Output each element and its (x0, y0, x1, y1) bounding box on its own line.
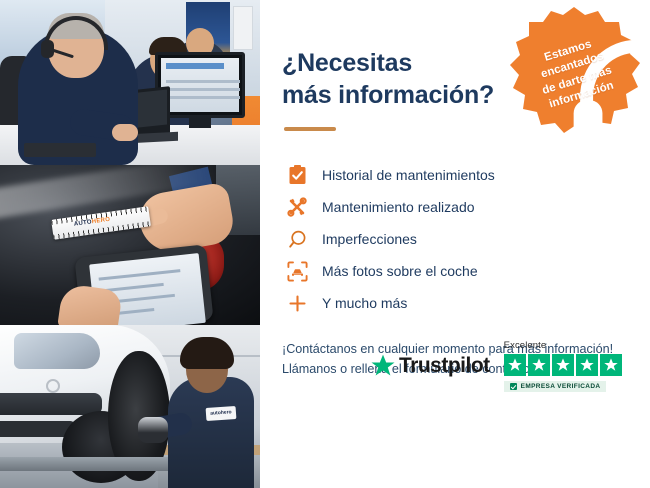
feature-label: Mantenimiento realizado (322, 199, 475, 215)
car-grille-upper (0, 393, 102, 415)
desk-tablet (24, 143, 96, 157)
rating-label: Excelente (504, 340, 622, 351)
feature-label: Más fotos sobre el coche (322, 263, 478, 279)
feature-label: Y mucho más (322, 295, 407, 311)
star-rating (504, 354, 622, 376)
car-headlight (14, 333, 100, 369)
monitor-screen (161, 58, 239, 112)
car-scan-icon (282, 261, 312, 282)
mechanic-glove (138, 417, 168, 443)
tablet-line (99, 269, 181, 281)
star-filled (576, 354, 598, 376)
monitor-content-row (166, 80, 240, 83)
monitor-toolbar (166, 63, 224, 69)
uniform-badge-text: autohero (206, 406, 237, 421)
title-underline-divider (284, 127, 336, 131)
car-inspection-ruler-photo: AUTOHERO (0, 165, 260, 325)
crossed-tools-icon (282, 197, 312, 217)
foreground-agent-hand (112, 124, 138, 141)
plus-icon (282, 294, 312, 313)
feature-label: Historial de mantenimientos (322, 167, 495, 183)
page-title-line-2: más información? (282, 81, 494, 109)
trustpilot-star-icon (370, 353, 396, 379)
trustpilot-wordmark: Trustpilot (399, 354, 490, 378)
uniform-badge: autohero (206, 406, 237, 421)
feature-item-more-photos: Más fotos sobre el coche (282, 255, 650, 287)
starburst-badge: Estamos encantados de darte más informac… (502, 3, 646, 139)
feature-item-much-more: Y mucho más (282, 287, 650, 319)
feature-list: Historial de mantenimientos M (282, 159, 650, 319)
call-center-agents-photo (0, 0, 260, 165)
mechanic-hair (180, 337, 234, 369)
wall-sign (233, 6, 253, 50)
verified-label: EMPRESA VERIFICADA (521, 383, 601, 390)
feature-item-imperfections: Imperfecciones (282, 223, 650, 255)
feature-label: Imperfecciones (322, 231, 417, 247)
magnifier-icon (282, 230, 312, 249)
star-filled (600, 354, 622, 376)
monitor-stand (189, 118, 211, 128)
monitor-content-row (166, 96, 240, 99)
verified-company-badge: EMPRESA VERIFICADA (504, 381, 607, 392)
trustpilot-logo[interactable]: Trustpilot (370, 353, 490, 379)
star-filled (552, 354, 574, 376)
monitor-content-row (166, 88, 240, 91)
trustpilot-score: Excelente EMPRESA VERIFICADA (504, 340, 622, 395)
star-filled (528, 354, 550, 376)
mechanic-wheel-photo: autohero (0, 325, 260, 488)
feature-item-maintenance-done: Mantenimiento realizado (282, 191, 650, 223)
car-emblem (46, 379, 60, 393)
star-filled (504, 354, 526, 376)
trustpilot-rating[interactable]: Trustpilot Excelente EMPRESA VERIFICADA (370, 340, 622, 395)
promo-banner: AUTOHERO (0, 0, 650, 488)
ruler-brand-hero: HERO (91, 217, 110, 226)
ruler-brand-auto: AUTO (74, 219, 93, 227)
clipboard-check-icon (282, 165, 312, 185)
photo-collage: AUTOHERO (0, 0, 260, 488)
verified-check-icon (510, 383, 517, 390)
content-panel: ¿Necesitas más información? Estamos enca… (260, 0, 650, 488)
page-title-line-1: ¿Necesitas (282, 49, 412, 77)
feature-item-maintenance-history: Historial de mantenimientos (282, 159, 650, 191)
